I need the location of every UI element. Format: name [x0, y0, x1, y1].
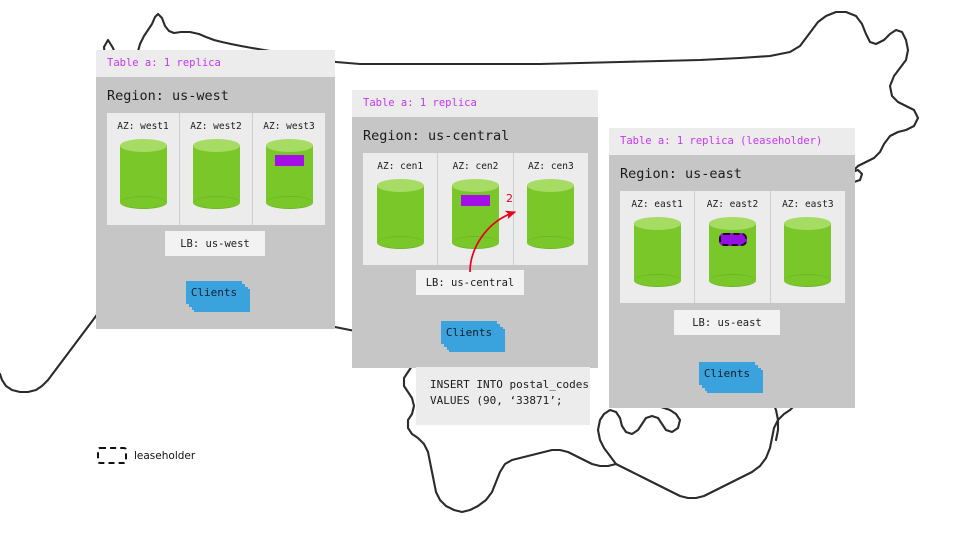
cylinder-body	[709, 223, 756, 281]
cylinder-bottom-inner	[120, 197, 167, 208]
replica-leaseholder-marker	[719, 233, 747, 246]
database-node-cylinder-icon[interactable]	[784, 217, 831, 287]
availability-zone-us-east-3[interactable]: AZ: east3	[770, 191, 845, 303]
load-balancer-box-us-east[interactable]: LB: us-east	[674, 310, 780, 335]
az-label: AZ: west3	[263, 121, 314, 132]
cylinder-body	[527, 185, 574, 243]
database-node-cylinder-icon[interactable]	[266, 139, 313, 209]
az-label: AZ: cen2	[453, 161, 499, 172]
az-label: AZ: cen3	[528, 161, 574, 172]
database-node-cylinder-icon[interactable]	[634, 217, 681, 287]
cylinder-bottom-inner	[634, 275, 681, 286]
availability-zone-us-east-2[interactable]: AZ: east2	[694, 191, 769, 303]
load-balancer-box-us-west[interactable]: LB: us-west	[165, 231, 265, 256]
availability-zone-us-central-2[interactable]: AZ: cen2	[437, 153, 512, 265]
cylinder-body	[634, 223, 681, 281]
cylinder-bottom-inner	[709, 275, 756, 286]
availability-zone-row-us-west: AZ: west1AZ: west2AZ: west3	[107, 113, 325, 225]
annotation-step-number: 2	[506, 192, 513, 205]
az-label: AZ: east1	[631, 199, 682, 210]
region-name-us-east: Region: us-east	[609, 155, 855, 191]
clients-label: Clients	[699, 362, 755, 385]
database-node-cylinder-icon[interactable]	[452, 179, 499, 249]
cylinder-bottom-inner	[784, 275, 831, 286]
cylinder-top	[377, 179, 424, 192]
availability-zone-row-us-east: AZ: east1AZ: east2AZ: east3	[620, 191, 845, 303]
cylinder-top	[452, 179, 499, 192]
az-label: AZ: east2	[707, 199, 758, 210]
az-label: AZ: cen1	[377, 161, 423, 172]
legend: leaseholder	[97, 447, 195, 464]
cylinder-top	[266, 139, 313, 152]
dashed-rectangle-icon	[97, 447, 127, 464]
availability-zone-us-east-1[interactable]: AZ: east1	[620, 191, 694, 303]
load-balancer-box-us-central[interactable]: LB: us-central	[416, 270, 524, 295]
availability-zone-us-west-1[interactable]: AZ: west1	[107, 113, 179, 225]
clients-stack-us-west[interactable]: Clients	[186, 281, 252, 314]
cylinder-bottom-inner	[452, 237, 499, 248]
cylinder-body	[784, 223, 831, 281]
database-node-cylinder-icon[interactable]	[709, 217, 756, 287]
cylinder-body	[452, 185, 499, 243]
cylinder-bottom-inner	[527, 237, 574, 248]
database-node-cylinder-icon[interactable]	[120, 139, 167, 209]
database-node-cylinder-icon[interactable]	[527, 179, 574, 249]
availability-zone-us-west-2[interactable]: AZ: west2	[179, 113, 252, 225]
cylinder-body	[120, 145, 167, 203]
region-table-title-us-west: Table a: 1 replica	[96, 50, 335, 77]
cylinder-bottom-inner	[193, 197, 240, 208]
cylinder-bottom-inner	[266, 197, 313, 208]
availability-zone-row-us-central: AZ: cen1AZ: cen2AZ: cen3	[363, 153, 588, 265]
sql-statement-box: INSERT INTO postal_codes VALUES (90, ‘33…	[416, 367, 590, 425]
az-label: AZ: east3	[782, 199, 833, 210]
region-table-title-us-central: Table a: 1 replica	[352, 90, 598, 117]
diagram-canvas: Table a: 1 replicaRegion: us-westAZ: wes…	[0, 0, 960, 540]
region-name-us-central: Region: us-central	[352, 117, 598, 153]
az-label: AZ: west2	[190, 121, 241, 132]
cylinder-body	[377, 185, 424, 243]
database-node-cylinder-icon[interactable]	[377, 179, 424, 249]
replica-marker	[275, 155, 304, 166]
availability-zone-us-central-1[interactable]: AZ: cen1	[363, 153, 437, 265]
cylinder-top	[193, 139, 240, 152]
availability-zone-us-central-3[interactable]: AZ: cen3	[513, 153, 588, 265]
cylinder-top	[120, 139, 167, 152]
cylinder-body	[193, 145, 240, 203]
replica-marker	[461, 195, 490, 206]
cylinder-top	[709, 217, 756, 230]
clients-stack-us-east[interactable]: Clients	[699, 362, 765, 395]
clients-label: Clients	[441, 321, 497, 344]
legend-label: leaseholder	[134, 450, 195, 462]
availability-zone-us-west-3[interactable]: AZ: west3	[252, 113, 325, 225]
clients-stack-us-central[interactable]: Clients	[441, 321, 507, 354]
region-name-us-west: Region: us-west	[96, 77, 335, 113]
clients-label: Clients	[186, 281, 242, 304]
cylinder-top	[527, 179, 574, 192]
cylinder-top	[634, 217, 681, 230]
database-node-cylinder-icon[interactable]	[193, 139, 240, 209]
region-table-title-us-east: Table a: 1 replica (leaseholder)	[609, 128, 855, 155]
cylinder-bottom-inner	[377, 237, 424, 248]
az-label: AZ: west1	[117, 121, 168, 132]
cylinder-body	[266, 145, 313, 203]
cylinder-top	[784, 217, 831, 230]
